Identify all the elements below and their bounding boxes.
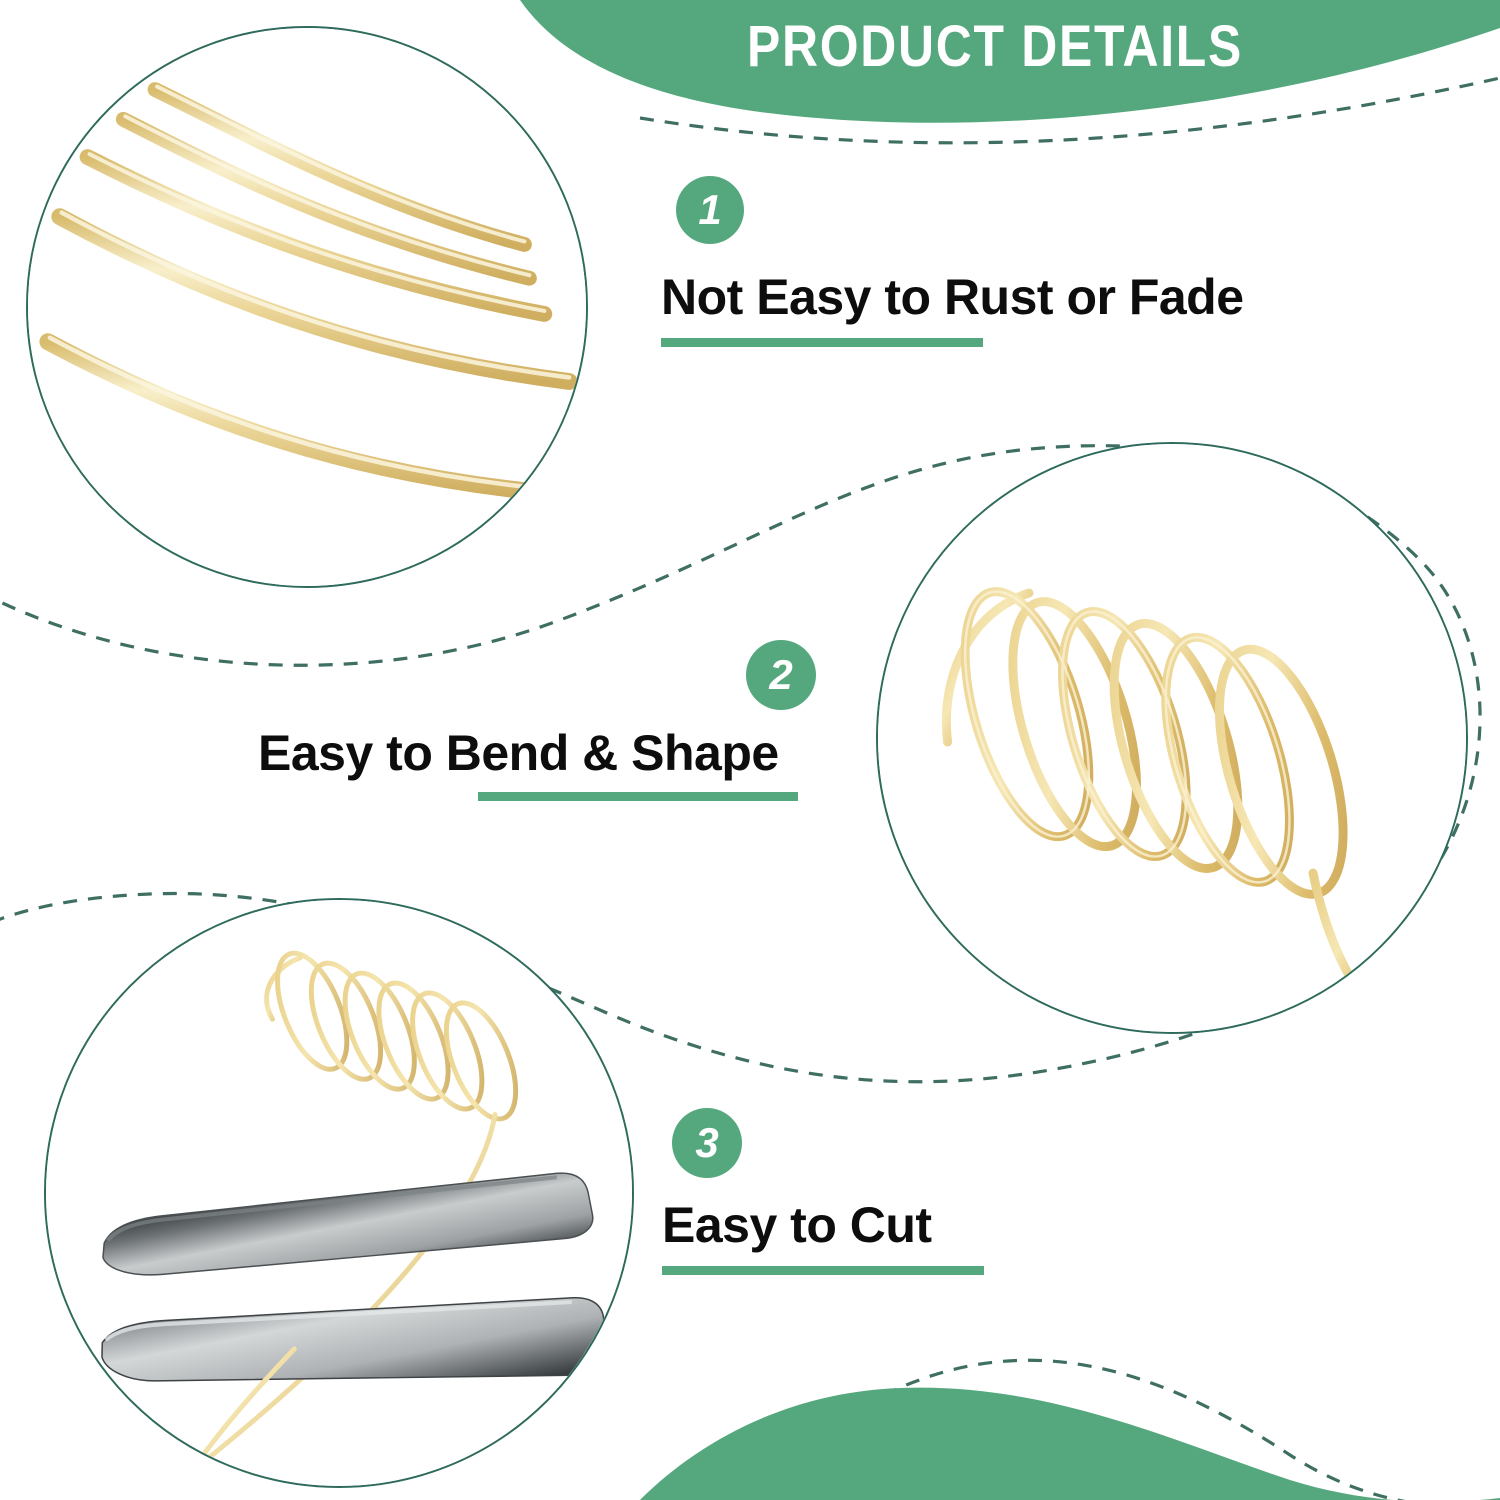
photo-gold-wire-strands [26,26,588,588]
product-details-infographic: PRODUCT DETAILS [0,0,1500,1500]
step-title-2: Easy to Bend & Shape [258,724,779,782]
photo-scissors-cutting-wire [44,898,634,1488]
page-title: PRODUCT DETAILS [655,8,1334,84]
step-underline-2 [478,792,798,801]
step-badge-2: 2 [746,640,816,710]
step-badge-3: 3 [672,1108,742,1178]
photo-gold-wire-coil [876,442,1468,1034]
step-underline-3 [662,1266,984,1275]
step-badge-1: 1 [676,176,744,244]
step-title-3: Easy to Cut [662,1196,932,1254]
step-underline-1 [661,338,983,347]
green-wave-bottom [640,1388,1500,1500]
step-title-1: Not Easy to Rust or Fade [661,268,1244,326]
